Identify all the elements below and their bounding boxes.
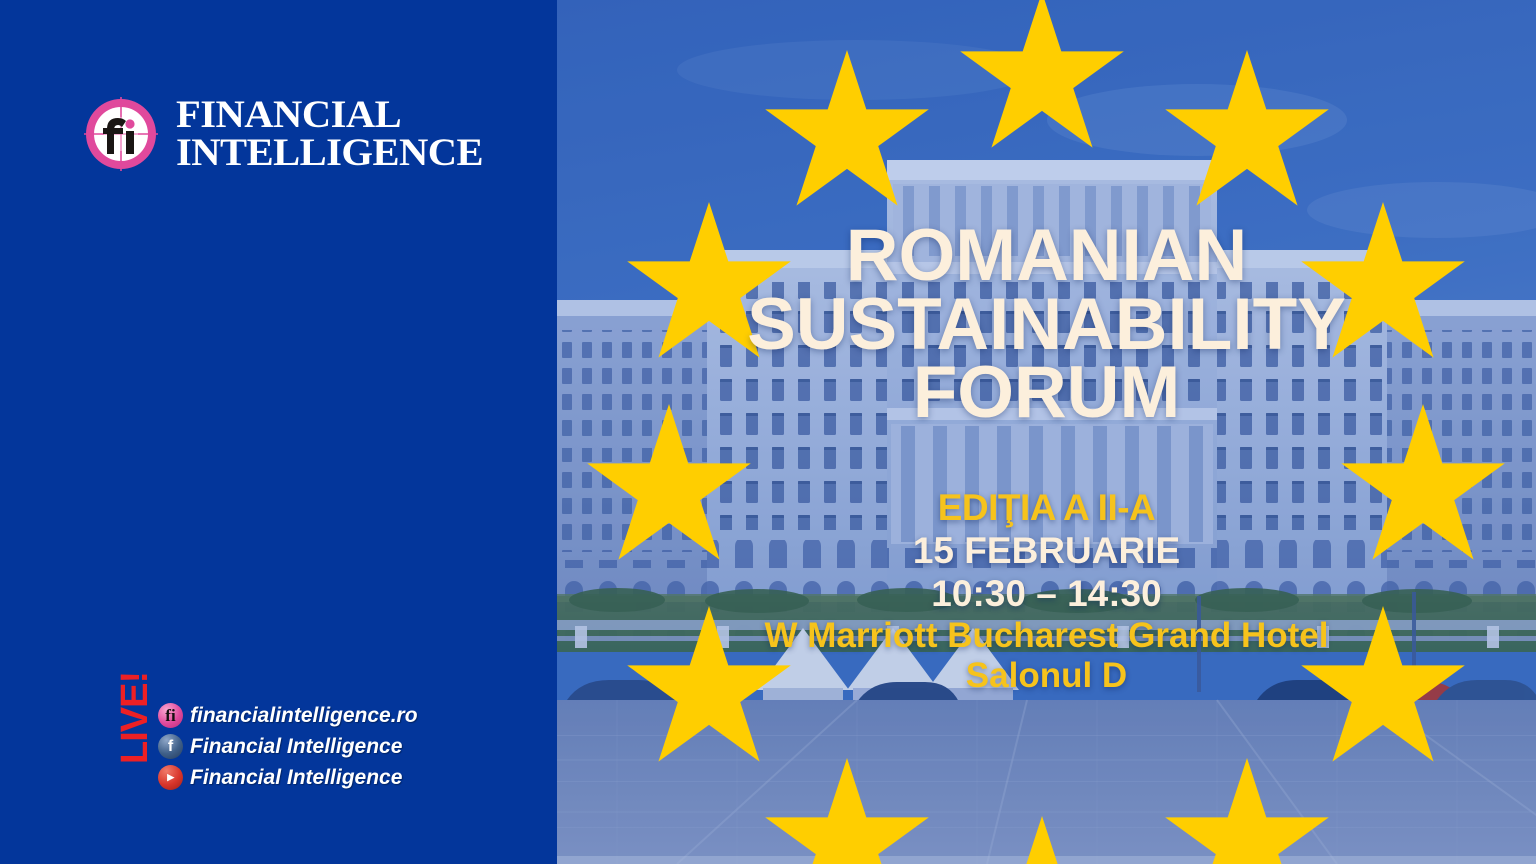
brand-name-line-2: INTELLIGENCE — [176, 134, 483, 172]
website-label: financialintelligence.ro — [190, 705, 418, 726]
event-edition: EDIŢIA A II-A — [557, 487, 1536, 530]
event-title-line-3: FORUM — [557, 359, 1536, 428]
live-badge: LIVE! — [116, 730, 154, 764]
brand-wordmark: FINANCIAL INTELLIGENCE — [176, 96, 471, 172]
fi-crosshair-logo-icon — [84, 97, 158, 171]
event-title-line-1: ROMANIAN — [557, 222, 1536, 291]
event-room: Salonul D — [557, 656, 1536, 697]
facebook-label: Financial Intelligence — [190, 736, 402, 757]
event-details: EDIŢIA A II-A 15 FEBRUARIE 10:30 – 14:30… — [557, 487, 1536, 697]
event-venue: W Marriott Bucharest Grand Hotel — [557, 616, 1536, 657]
event-title: ROMANIAN SUSTAINABILITY FORUM — [557, 222, 1536, 428]
social-row-website[interactable]: fi financialintelligence.ro — [158, 700, 418, 731]
social-channel-list: fi financialintelligence.ro f Financial … — [158, 700, 418, 793]
live-channels-block: LIVE! fi financialintelligence.ro f Fina… — [118, 700, 418, 793]
event-time: 10:30 – 14:30 — [557, 573, 1536, 616]
brand-lockup: FINANCIAL INTELLIGENCE — [84, 96, 471, 172]
event-banner: ROMANIAN SUSTAINABILITY FORUM EDIŢIA A I… — [0, 0, 1536, 864]
brand-name-line-1: FINANCIAL — [176, 96, 483, 134]
youtube-icon: ▶ — [158, 765, 183, 790]
brand-panel: FINANCIAL INTELLIGENCE LIVE! fi financia… — [0, 0, 557, 864]
social-row-youtube[interactable]: ▶ Financial Intelligence — [158, 762, 418, 793]
event-text-overlay: ROMANIAN SUSTAINABILITY FORUM EDIŢIA A I… — [557, 0, 1536, 864]
youtube-label: Financial Intelligence — [190, 767, 402, 788]
event-title-line-2: SUSTAINABILITY — [557, 291, 1536, 360]
event-date: 15 FEBRUARIE — [557, 530, 1536, 573]
social-row-facebook[interactable]: f Financial Intelligence — [158, 731, 418, 762]
facebook-icon: f — [158, 734, 183, 759]
financial-intelligence-icon: fi — [158, 703, 183, 728]
